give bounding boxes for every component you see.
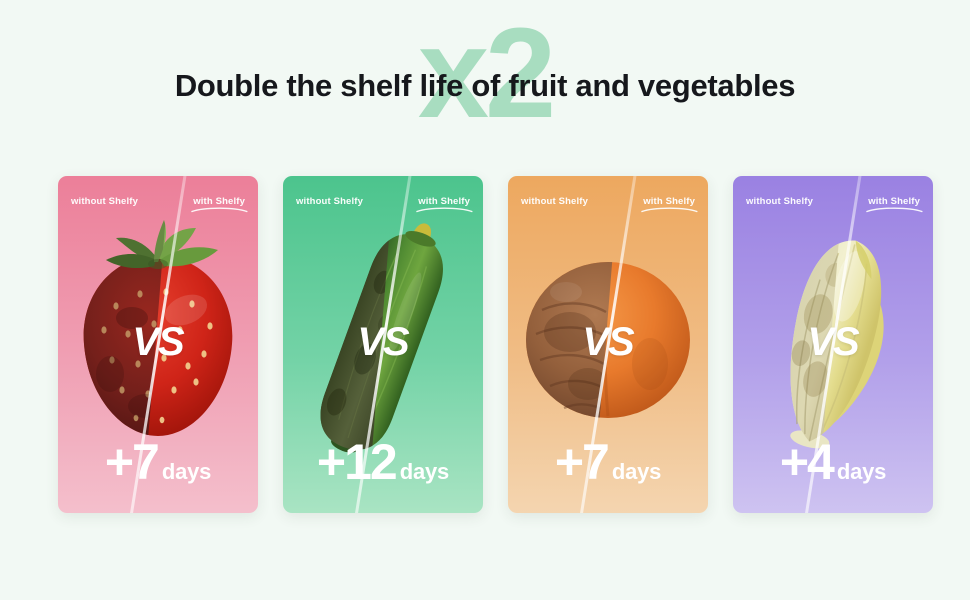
card-strawberry[interactable]: without Shelfy with Shelfy — [58, 176, 258, 513]
label-with-shelfy: with Shelfy — [868, 196, 920, 212]
underline-swoosh-icon — [416, 206, 473, 213]
vs-badge: VS — [508, 320, 708, 365]
page-title: Double the shelf life of fruit and veget… — [0, 68, 970, 104]
gain-unit: days — [400, 459, 449, 484]
underline-swoosh-icon — [191, 206, 248, 213]
vs-badge: VS — [283, 320, 483, 365]
card-labels: without Shelfy with Shelfy — [508, 196, 708, 212]
label-without-shelfy: without Shelfy — [521, 196, 588, 207]
label-with-shelfy: with Shelfy — [193, 196, 245, 212]
header-block: x2 Double the shelf life of fruit and ve… — [0, 0, 970, 160]
gain-unit: days — [612, 459, 661, 484]
shelf-life-gain: +4days — [733, 433, 933, 491]
card-endive[interactable]: without Shelfy with Shelfy — [733, 176, 933, 513]
label-with-shelfy: with Shelfy — [643, 196, 695, 212]
underline-swoosh-icon — [866, 206, 923, 213]
shelf-life-gain: +7days — [508, 433, 708, 491]
gain-unit: days — [162, 459, 211, 484]
gain-number: +4 — [780, 434, 833, 490]
card-zucchini[interactable]: without Shelfy with Shelfy — [283, 176, 483, 513]
gain-number: +7 — [555, 434, 608, 490]
gain-number: +12 — [317, 434, 396, 490]
gain-unit: days — [837, 459, 886, 484]
card-labels: without Shelfy with Shelfy — [733, 196, 933, 212]
card-labels: without Shelfy with Shelfy — [58, 196, 258, 212]
vs-badge: VS — [733, 320, 933, 365]
label-without-shelfy: without Shelfy — [71, 196, 138, 207]
card-labels: without Shelfy with Shelfy — [283, 196, 483, 212]
shelf-life-gain: +7days — [58, 433, 258, 491]
label-without-shelfy: without Shelfy — [296, 196, 363, 207]
label-with-shelfy: with Shelfy — [418, 196, 470, 212]
shelf-life-gain: +12days — [283, 433, 483, 491]
comparison-card-row: without Shelfy with Shelfy — [58, 176, 912, 513]
label-without-shelfy: without Shelfy — [746, 196, 813, 207]
gain-number: +7 — [105, 434, 158, 490]
card-peach[interactable]: without Shelfy with Shelfy — [508, 176, 708, 513]
underline-swoosh-icon — [641, 206, 698, 213]
vs-badge: VS — [58, 320, 258, 365]
